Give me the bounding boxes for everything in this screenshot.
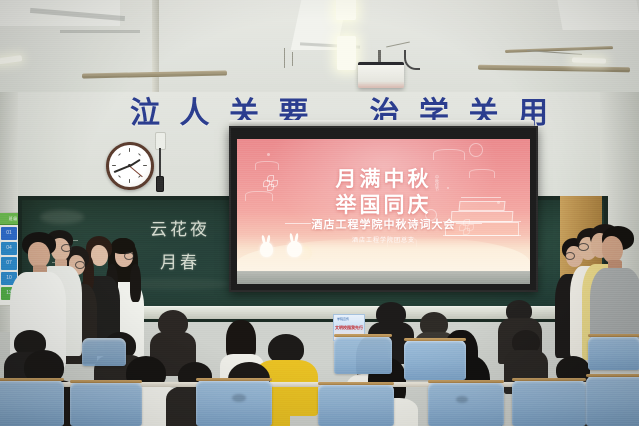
- seat[interactable]: [0, 380, 64, 426]
- seat[interactable]: [70, 382, 142, 426]
- slide-organizer: 酒店工程学院团总支: [237, 235, 530, 244]
- ceiling-projector: [358, 62, 404, 88]
- slide-seal-text: 中秋佳节: [435, 175, 440, 191]
- chart-cell: 01: [1, 227, 17, 240]
- wall-clock: [106, 142, 154, 190]
- projected-slide: 月满中秋 举国同庆 酒店工程学院中秋诗词大会 酒店工程学院团总支 中秋佳节: [237, 139, 530, 271]
- chart-cell: 07: [1, 257, 17, 270]
- banner-char-2: 人: [180, 92, 212, 128]
- fluorescent-tube-center-lower: [337, 36, 356, 70]
- chalk-text-line-2: 月春: [160, 248, 200, 273]
- chalk-text-line-1: 云花夜: [150, 215, 210, 240]
- chart-cell: 04: [1, 242, 17, 255]
- screen-bottom-bar: [237, 271, 530, 284]
- poster-blue-text: 学院宣传: [337, 317, 349, 321]
- slide-title-line-2: 举国同庆: [237, 189, 530, 219]
- fluorescent-tube-center-upper: [336, 0, 356, 20]
- ceiling-pipe-right: [478, 65, 630, 73]
- seat[interactable]: [588, 336, 639, 370]
- clock-second-hand: [129, 166, 143, 178]
- poster-red-text: 文明校园我先行: [335, 325, 363, 331]
- seat[interactable]: [428, 382, 504, 426]
- fluorescent-tube-left: [0, 55, 22, 65]
- light-switch-plate-lower[interactable]: [156, 176, 164, 192]
- classroom-photo: 泣 人 关 要 治 学 关 用 班级量化考核评比表 01 02 03 04 05…: [0, 0, 639, 426]
- seat[interactable]: [196, 380, 272, 426]
- seat[interactable]: [404, 340, 466, 380]
- projection-screen: 月满中秋 举国同庆 酒店工程学院中秋诗词大会 酒店工程学院团总支 中秋佳节: [229, 126, 538, 292]
- seat[interactable]: [512, 380, 586, 426]
- seat[interactable]: [334, 336, 392, 374]
- seat[interactable]: [586, 376, 639, 426]
- fluorescent-tube-far-right: [572, 57, 606, 63]
- ceiling: [0, 0, 639, 96]
- seat[interactable]: [82, 338, 126, 366]
- switch-cord: [159, 148, 161, 178]
- slide-subtitle: 酒店工程学院中秋诗词大会: [237, 216, 530, 232]
- banner-char-1: 泣: [130, 92, 162, 128]
- seat[interactable]: [318, 384, 394, 426]
